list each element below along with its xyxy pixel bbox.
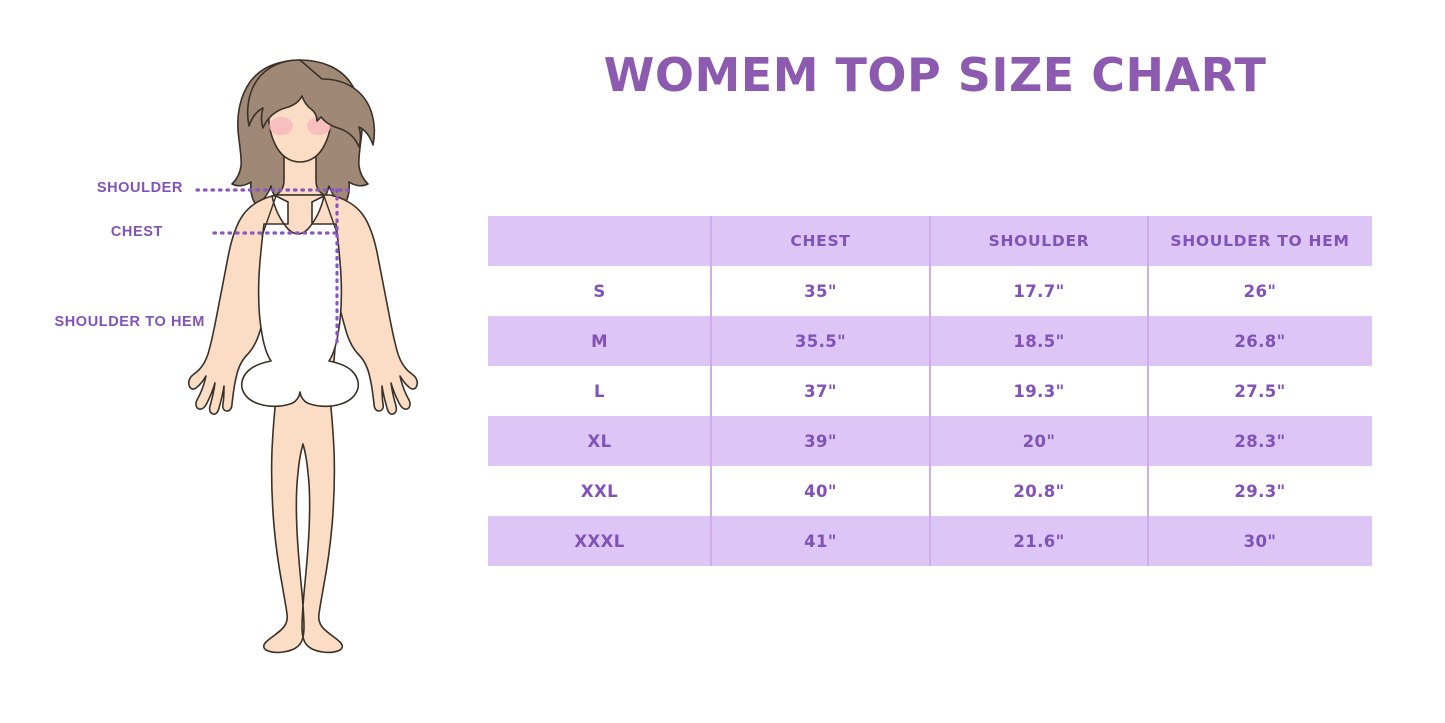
female-body-illustration bbox=[150, 40, 450, 690]
cell-size: XL bbox=[488, 416, 711, 466]
table-row: XXXL 41" 21.6" 30" bbox=[488, 516, 1372, 566]
cell-shoulder: 20" bbox=[930, 416, 1148, 466]
cell-size: S bbox=[488, 266, 711, 316]
cell-chest: 40" bbox=[711, 466, 930, 516]
label-shoulder: SHOULDER bbox=[97, 180, 183, 196]
cell-shoulder-to-hem: 27.5" bbox=[1148, 366, 1372, 416]
cell-shoulder-to-hem: 29.3" bbox=[1148, 466, 1372, 516]
table-row: L 37" 19.3" 27.5" bbox=[488, 366, 1372, 416]
header-shoulder-to-hem: SHOULDER TO HEM bbox=[1148, 216, 1372, 266]
cell-shoulder: 17.7" bbox=[930, 266, 1148, 316]
cell-shoulder: 19.3" bbox=[930, 366, 1148, 416]
cell-chest: 41" bbox=[711, 516, 930, 566]
label-chest: CHEST bbox=[111, 224, 163, 240]
cell-shoulder: 20.8" bbox=[930, 466, 1148, 516]
cell-chest: 35" bbox=[711, 266, 930, 316]
cell-size: M bbox=[488, 316, 711, 366]
header-chest: CHEST bbox=[711, 216, 930, 266]
cell-shoulder-to-hem: 26" bbox=[1148, 266, 1372, 316]
cell-chest: 35.5" bbox=[711, 316, 930, 366]
cell-shoulder-to-hem: 28.3" bbox=[1148, 416, 1372, 466]
cell-chest: 39" bbox=[711, 416, 930, 466]
cell-shoulder: 18.5" bbox=[930, 316, 1148, 366]
header-size bbox=[488, 216, 711, 266]
cell-shoulder-to-hem: 30" bbox=[1148, 516, 1372, 566]
cell-size: XXXL bbox=[488, 516, 711, 566]
blush-left bbox=[269, 117, 293, 135]
cell-size: XXL bbox=[488, 466, 711, 516]
header-shoulder: SHOULDER bbox=[930, 216, 1148, 266]
cell-shoulder: 21.6" bbox=[930, 516, 1148, 566]
cell-shoulder-to-hem: 26.8" bbox=[1148, 316, 1372, 366]
label-shoulder-to-hem: SHOULDER TO HEM bbox=[54, 314, 205, 330]
cell-chest: 37" bbox=[711, 366, 930, 416]
table-row: S 35" 17.7" 26" bbox=[488, 266, 1372, 316]
table-row: XXL 40" 20.8" 29.3" bbox=[488, 466, 1372, 516]
size-chart-table: CHEST SHOULDER SHOULDER TO HEM S 35" 17.… bbox=[488, 216, 1372, 566]
page-title: WOMEM TOP SIZE CHART bbox=[480, 48, 1390, 102]
table-row: M 35.5" 18.5" 26.8" bbox=[488, 316, 1372, 366]
table-header-row: CHEST SHOULDER SHOULDER TO HEM bbox=[488, 216, 1372, 266]
cell-size: L bbox=[488, 366, 711, 416]
table-row: XL 39" 20" 28.3" bbox=[488, 416, 1372, 466]
